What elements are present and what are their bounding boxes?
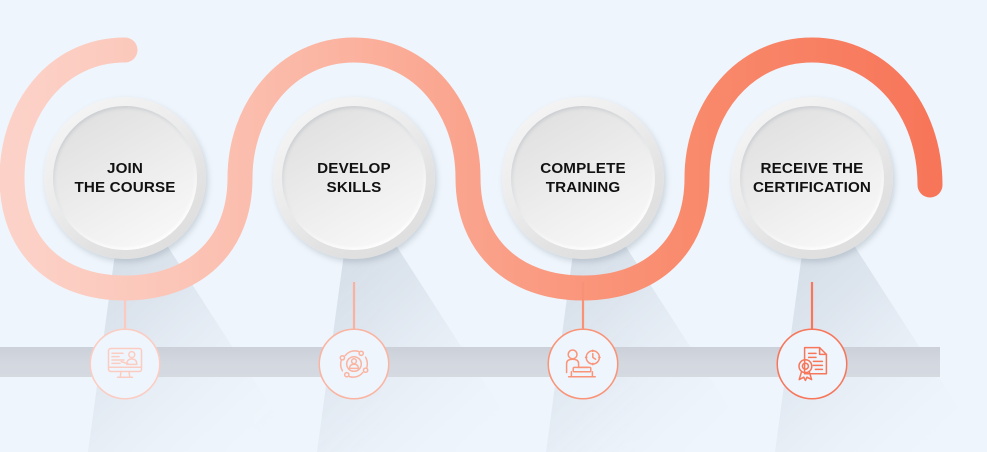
step-label-2: DEVELOP SKILLS — [273, 97, 435, 259]
step-circle-4[interactable]: RECEIVE THE CERTIFICATION — [731, 97, 893, 259]
step-circle-1[interactable]: JOIN THE COURSE — [44, 97, 206, 259]
step-label-4-line1: RECEIVE THE — [761, 159, 864, 178]
step-label-4-line2: CERTIFICATION — [753, 178, 871, 197]
step-label-2-line2: SKILLS — [327, 178, 382, 197]
step-badge-1[interactable] — [91, 330, 159, 398]
step-label-1-line2: THE COURSE — [74, 178, 175, 197]
monitor-elearning-icon — [107, 347, 143, 381]
step-badge-4[interactable] — [778, 330, 846, 398]
person-desk-clock-icon — [564, 348, 602, 380]
step-circle-3[interactable]: COMPLETE TRAINING — [502, 97, 664, 259]
step-label-3: COMPLETE TRAINING — [502, 97, 664, 259]
step-label-3-line2: TRAINING — [546, 178, 621, 197]
step-label-3-line1: COMPLETE — [540, 159, 626, 178]
person-network-skills-icon — [336, 346, 372, 382]
infographic-canvas: JOIN THE COURSE DEVELOP SKILLS COMPLETE … — [0, 0, 987, 452]
step-label-1-line1: JOIN — [107, 159, 143, 178]
step-label-2-line1: DEVELOP — [317, 159, 391, 178]
step-badge-3[interactable] — [549, 330, 617, 398]
step-badge-2[interactable] — [320, 330, 388, 398]
certificate-award-icon — [795, 346, 829, 382]
step-circle-2[interactable]: DEVELOP SKILLS — [273, 97, 435, 259]
step-label-1: JOIN THE COURSE — [44, 97, 206, 259]
step-label-4: RECEIVE THE CERTIFICATION — [731, 97, 893, 259]
